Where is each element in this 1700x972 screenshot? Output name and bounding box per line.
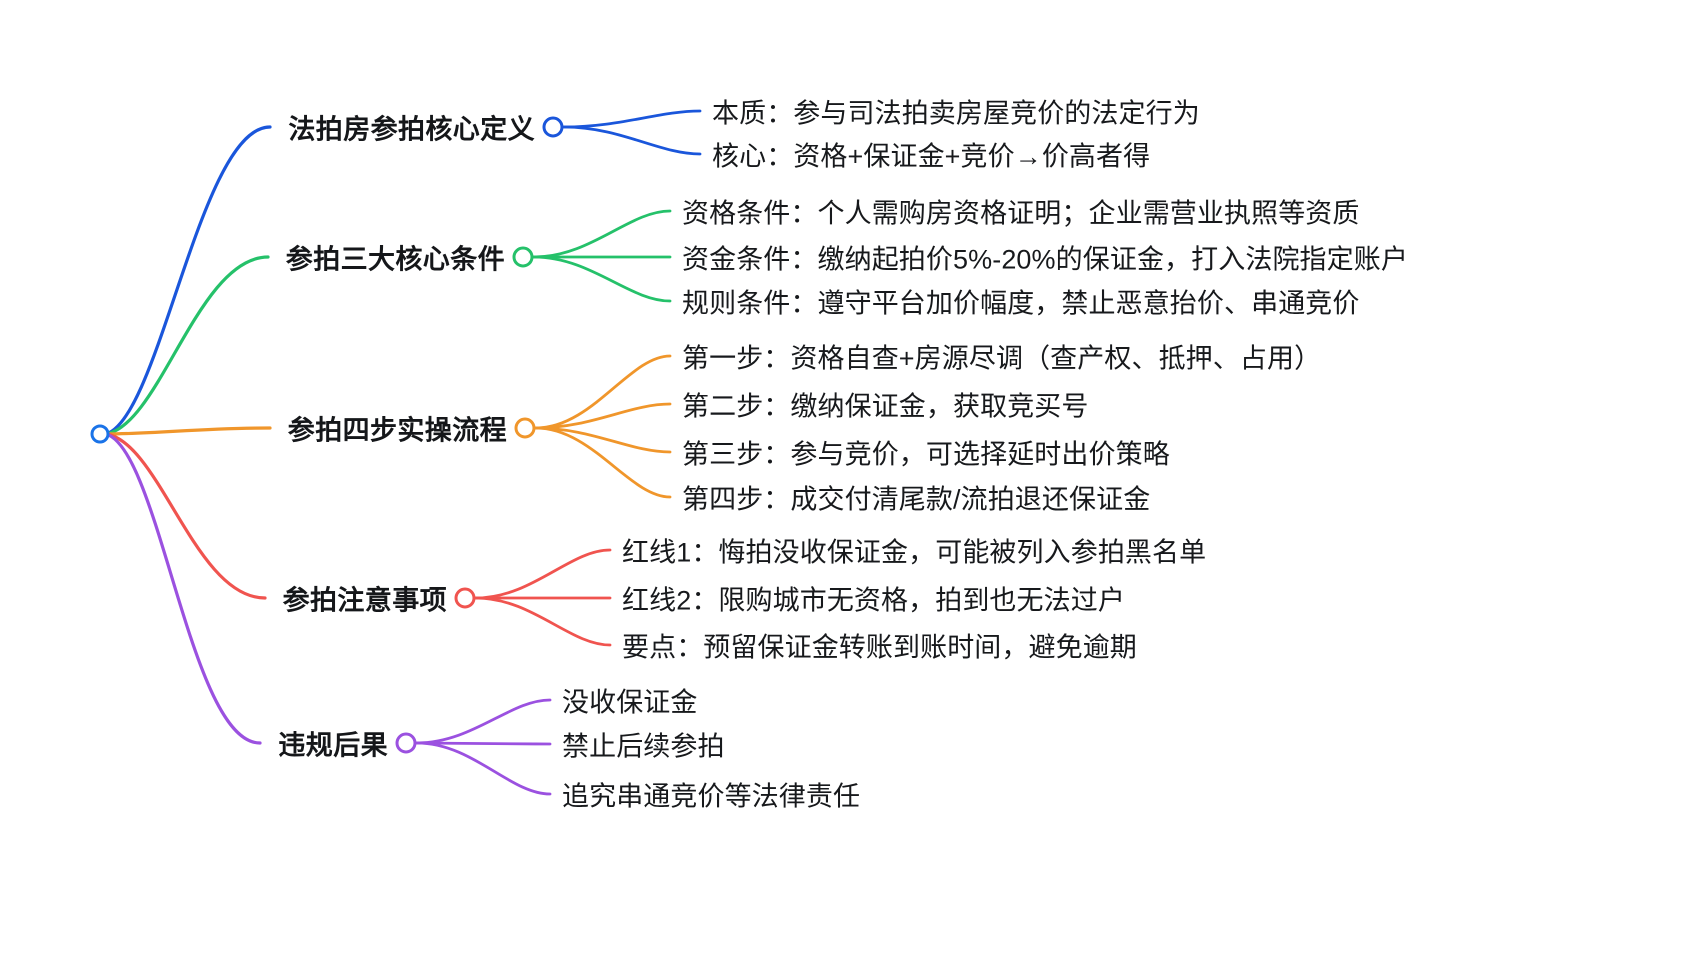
leaf-connector-consequences-1 xyxy=(417,743,550,744)
leaf-label-consequences-1[interactable]: 禁止后续参拍 xyxy=(562,725,725,764)
leaf-label-consequences-0[interactable]: 没收保证金 xyxy=(562,681,698,720)
branch-node-conditions[interactable] xyxy=(513,247,534,268)
leaf-label-process-3[interactable]: 第四步：成交付清尾款/流拍退还保证金 xyxy=(682,478,1150,517)
leaf-label-consequences-2[interactable]: 追究串通竞价等法律责任 xyxy=(562,775,860,814)
branch-trunk-conditions xyxy=(106,257,268,434)
root-node[interactable] xyxy=(91,425,110,444)
branch-label-conditions[interactable]: 参拍三大核心条件 xyxy=(286,238,505,277)
leaf-label-process-0[interactable]: 第一步：资格自查+房源尽调（查产权、抵押、占用） xyxy=(682,337,1321,376)
leaf-label-conditions-2[interactable]: 规则条件：遵守平台加价幅度，禁止恶意抬价、串通竞价 xyxy=(682,282,1360,321)
branch-trunk-cautions xyxy=(106,434,265,598)
leaf-connector-conditions-2 xyxy=(534,257,670,301)
leaf-label-definition-0[interactable]: 本质：参与司法拍卖房屋竞价的法定行为 xyxy=(712,92,1200,131)
leaf-label-process-2[interactable]: 第三步：参与竞价，可选择延时出价策略 xyxy=(682,433,1170,472)
leaf-connector-process-0 xyxy=(536,356,670,428)
leaf-label-cautions-2[interactable]: 要点：预留保证金转账到账时间，避免逾期 xyxy=(622,626,1137,665)
branch-label-definition[interactable]: 法拍房参拍核心定义 xyxy=(288,108,535,147)
branch-label-process[interactable]: 参拍四步实操流程 xyxy=(288,409,507,448)
leaf-connector-cautions-2 xyxy=(476,598,610,645)
leaf-label-conditions-0[interactable]: 资格条件：个人需购房资格证明；企业需营业执照等资质 xyxy=(682,192,1360,231)
leaf-label-cautions-1[interactable]: 红线2：限购城市无资格，拍到也无法过户 xyxy=(622,579,1125,618)
branch-node-cautions[interactable] xyxy=(455,588,476,609)
branch-node-definition[interactable] xyxy=(543,117,564,138)
leaf-connector-definition-1 xyxy=(564,127,700,154)
leaf-label-definition-1[interactable]: 核心：资格+保证金+竞价→价高者得 xyxy=(712,135,1150,174)
leaf-connector-process-3 xyxy=(536,428,670,497)
leaf-connector-consequences-0 xyxy=(417,700,550,743)
branch-node-consequences[interactable] xyxy=(396,733,417,754)
leaf-connector-process-1 xyxy=(536,404,670,428)
leaf-label-process-1[interactable]: 第二步：缴纳保证金，获取竞买号 xyxy=(682,385,1089,424)
leaf-label-cautions-0[interactable]: 红线1：悔拍没收保证金，可能被列入参拍黑名单 xyxy=(622,531,1206,570)
branch-trunk-definition xyxy=(106,127,270,434)
leaf-connector-process-2 xyxy=(536,428,670,452)
mindmap-canvas: 法拍房参拍核心定义本质：参与司法拍卖房屋竞价的法定行为核心：资格+保证金+竞价→… xyxy=(0,0,1700,972)
branch-trunk-consequences xyxy=(106,434,260,743)
branch-node-process[interactable] xyxy=(515,418,536,439)
leaf-connector-definition-0 xyxy=(564,111,700,127)
leaf-connector-consequences-2 xyxy=(417,743,550,794)
branch-label-consequences[interactable]: 违规后果 xyxy=(278,724,388,763)
leaf-connector-conditions-0 xyxy=(534,211,670,257)
branch-trunk-process xyxy=(106,428,270,434)
leaf-label-conditions-1[interactable]: 资金条件：缴纳起拍价5%-20%的保证金，打入法院指定账户 xyxy=(682,238,1408,277)
leaf-connector-cautions-0 xyxy=(476,550,610,598)
branch-label-cautions[interactable]: 参拍注意事项 xyxy=(283,579,447,618)
